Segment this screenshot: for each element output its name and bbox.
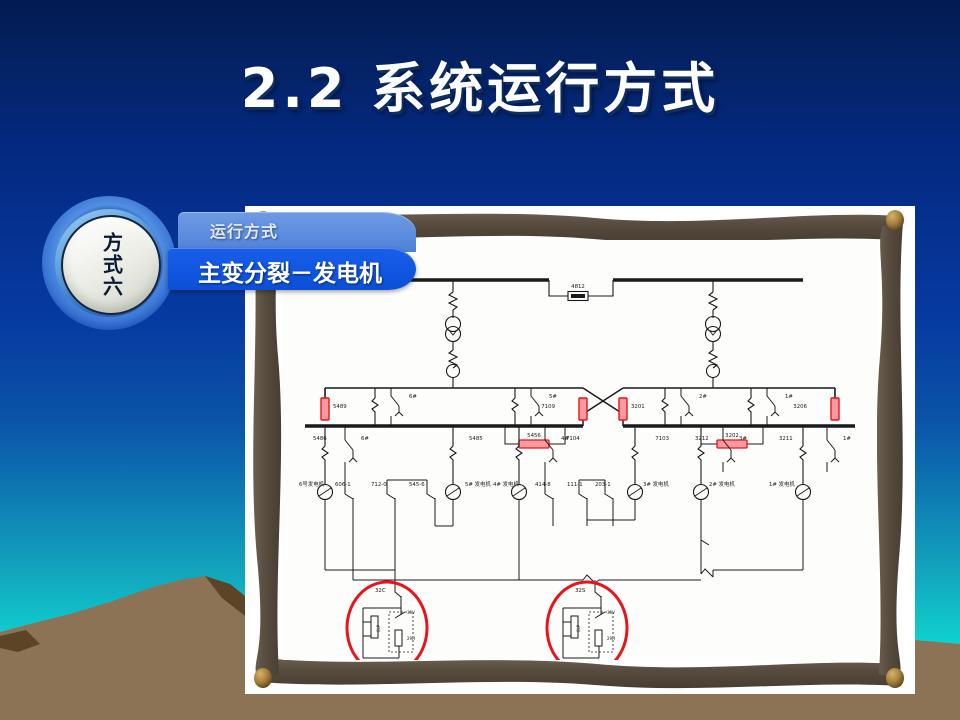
svg-text:4#: 4# [561, 436, 569, 442]
svg-text:5# 发电机: 5# 发电机 [465, 480, 491, 488]
frame-nail-top-right [886, 210, 904, 230]
banner-top-label: 运行方式 [210, 218, 278, 242]
svg-text:0LP: 0LP [376, 624, 381, 632]
mode-banner[interactable]: 运行方式 主变分裂－发电机 [150, 212, 416, 290]
svg-text:4# 发电机: 4# 发电机 [493, 480, 519, 488]
svg-text:1# 发电机: 1# 发电机 [769, 480, 795, 488]
svg-text:5#: 5# [549, 394, 557, 400]
svg-text:5456: 5456 [527, 433, 541, 439]
svg-text:111-1: 111-1 [567, 482, 583, 488]
frame-nail-bottom-right [886, 668, 904, 688]
badge-face: 方式六 [61, 215, 161, 315]
svg-text:32S: 32S [575, 588, 586, 594]
badge-label: 方式六 [63, 217, 159, 313]
svg-text:6#: 6# [409, 394, 417, 400]
svg-text:30V: 30V [407, 610, 415, 615]
banner-bottom-panel: 主变分裂－发电机 [168, 248, 416, 290]
callout-right: 32S 0LP 30V 29H [547, 582, 627, 660]
bus-label-3211: 3211 [779, 436, 793, 442]
svg-text:2# 发电机: 2# 发电机 [709, 480, 735, 488]
svg-text:2#: 2# [699, 394, 707, 400]
svg-text:0LP: 0LP [576, 624, 581, 632]
svg-text:7109: 7109 [541, 404, 555, 410]
svg-text:1#: 1# [785, 394, 793, 400]
svg-text:1#: 1# [843, 436, 851, 442]
slide-root: 2.2 系统运行方式 [0, 0, 960, 720]
svg-text:3201: 3201 [631, 404, 645, 410]
svg-text:3206: 3206 [793, 404, 807, 410]
banner-bottom-label: 主变分裂－发电机 [198, 254, 382, 288]
svg-text:29H: 29H [607, 636, 615, 641]
bus-label-3212: 3212 [695, 436, 709, 442]
svg-text:545-6: 545-6 [409, 482, 425, 488]
svg-text:414-8: 414-8 [535, 482, 551, 488]
single-line-diagram: 4812 [283, 240, 877, 660]
svg-text:3202: 3202 [725, 433, 739, 439]
callout-left: 32C 0LP 30V 29H [347, 582, 427, 660]
svg-text:6#: 6# [361, 436, 369, 442]
bus-label-5485: 5485 [469, 436, 483, 442]
banner-top-panel: 运行方式 [178, 212, 416, 252]
svg-text:32C: 32C [375, 588, 386, 594]
svg-text:3#: 3# [739, 436, 747, 442]
frame-nail-bottom-left [254, 668, 272, 688]
svg-text:712-0: 712-0 [371, 482, 387, 488]
svg-text:606-1: 606-1 [335, 482, 351, 488]
svg-text:203-1: 203-1 [595, 482, 611, 488]
svg-text:29H: 29H [407, 636, 415, 641]
page-title: 2.2 系统运行方式 [0, 44, 960, 123]
svg-text:5489: 5489 [333, 404, 347, 410]
svg-text:30V: 30V [607, 610, 615, 615]
svg-text:3# 发电机: 3# 发电机 [643, 480, 669, 488]
svg-text:6号发电机: 6号发电机 [299, 480, 325, 488]
tie-breaker-label: 4812 [571, 284, 585, 290]
bus-label-7103: 7103 [655, 436, 669, 442]
